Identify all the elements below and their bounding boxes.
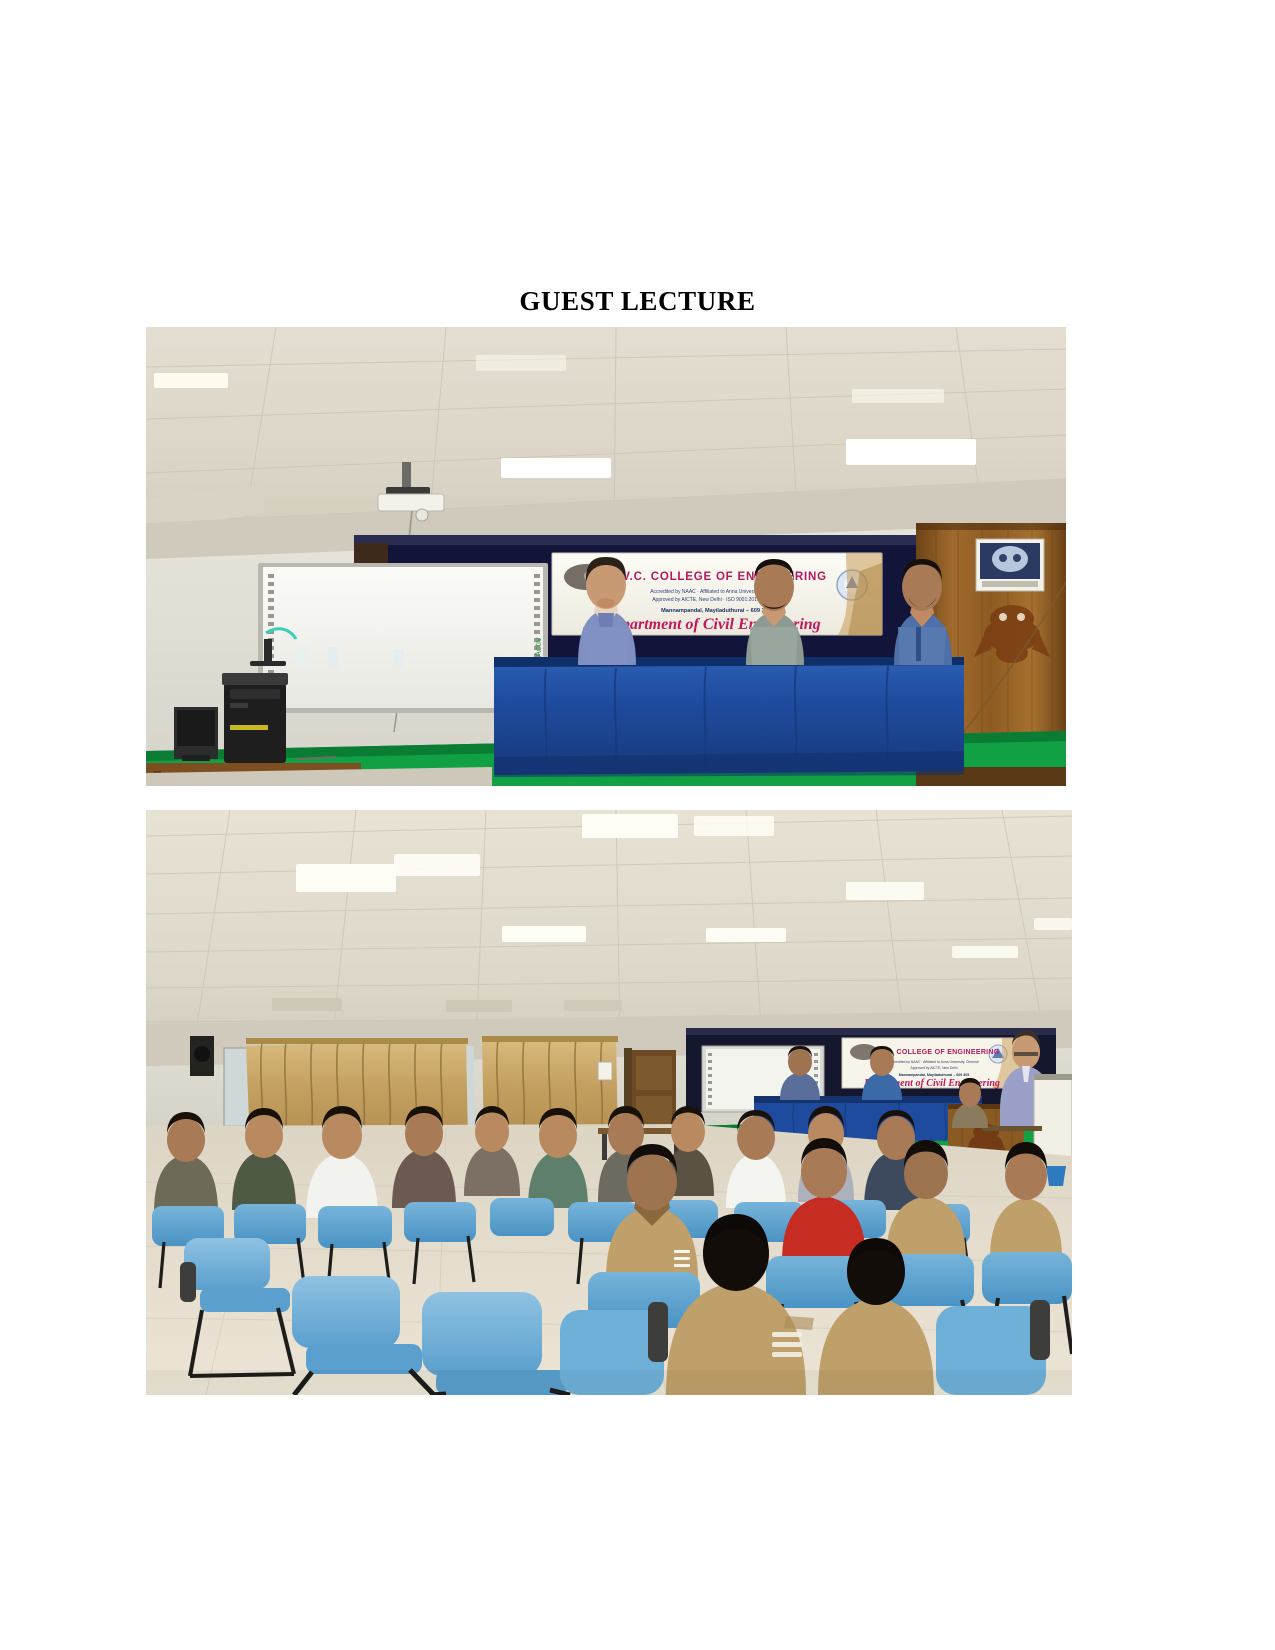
document-page: GUEST LECTURE (0, 0, 1275, 1650)
svg-text:Approved by AICTE, New Delhi: Approved by AICTE, New Delhi (910, 1066, 957, 1070)
svg-text:Mannampandal, Mayiladuthurai –: Mannampandal, Mayiladuthurai – 609 305 (899, 1073, 970, 1077)
guest-lecture-audience-photo: A.V.C. COLLEGE OF ENGINEERING Accredited… (146, 810, 1072, 1395)
svg-text:Mannampandal, Mayiladuthurai –: Mannampandal, Mayiladuthurai – 609 305 (661, 608, 771, 614)
rank-stripes (772, 1332, 802, 1357)
audience-photo-illustration: A.V.C. COLLEGE OF ENGINEERING Accredited… (146, 810, 1072, 1395)
page-title: GUEST LECTURE (0, 286, 1275, 317)
svg-text:Activ: Activ (533, 637, 543, 657)
guest-lecture-dais-photo: Activ A.V.C. COLLEGE OF ENGINEERING Accr… (146, 327, 1066, 786)
svg-text:Accredited by NAAC · Affiliate: Accredited by NAAC · Affiliated to Anna … (889, 1060, 978, 1064)
svg-text:A.V.C. COLLEGE OF ENGINEERING: A.V.C. COLLEGE OF ENGINEERING (609, 571, 827, 583)
dais-table (494, 657, 964, 777)
dais-photo-illustration: Activ A.V.C. COLLEGE OF ENGINEERING Accr… (146, 327, 1066, 786)
